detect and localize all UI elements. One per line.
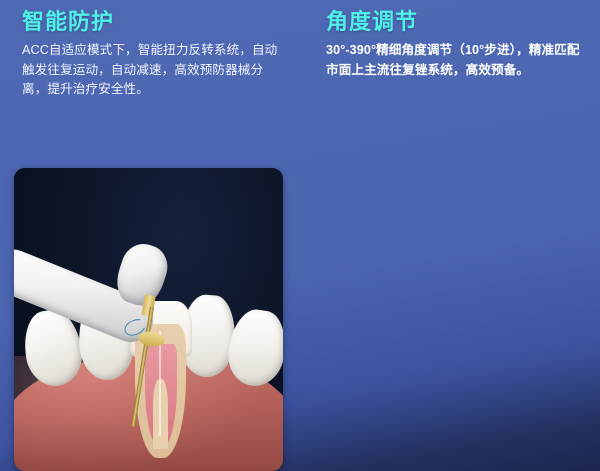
tooth-root-separator	[159, 331, 161, 436]
feature-comparison-page: 智能防护 ACC自适应模式下，智能扭力反转系统，自动触发往复运动，自动减速，高效…	[0, 0, 600, 471]
text-block-right: 角度调节 30°-390°精细角度调节（10°步进），精准匹配市面上主流往复锉系…	[300, 0, 600, 80]
dental-scene-illustration	[14, 168, 283, 471]
feature-image-left	[14, 168, 283, 471]
feature-title-left: 智能防护	[22, 10, 282, 34]
feature-body-left: ACC自适应模式下，智能扭力反转系统，自动触发往复运动，自动减速，高效预防器械分…	[22, 41, 282, 100]
feature-column-angle-adjustment: 角度调节 30°-390°精细角度调节（10°步进），精准匹配市面上主流往复锉系…	[300, 0, 600, 471]
feature-body-right: 30°-390°精细角度调节（10°步进），精准匹配市面上主流往复锉系统，高效预…	[326, 41, 588, 80]
feature-title-right: 角度调节	[326, 10, 588, 34]
text-block-left: 智能防护 ACC自适应模式下，智能扭力反转系统，自动触发往复运动，自动减速，高效…	[0, 0, 300, 100]
feature-column-smart-protection: 智能防护 ACC自适应模式下，智能扭力反转系统，自动触发往复运动，自动减速，高效…	[0, 0, 300, 471]
